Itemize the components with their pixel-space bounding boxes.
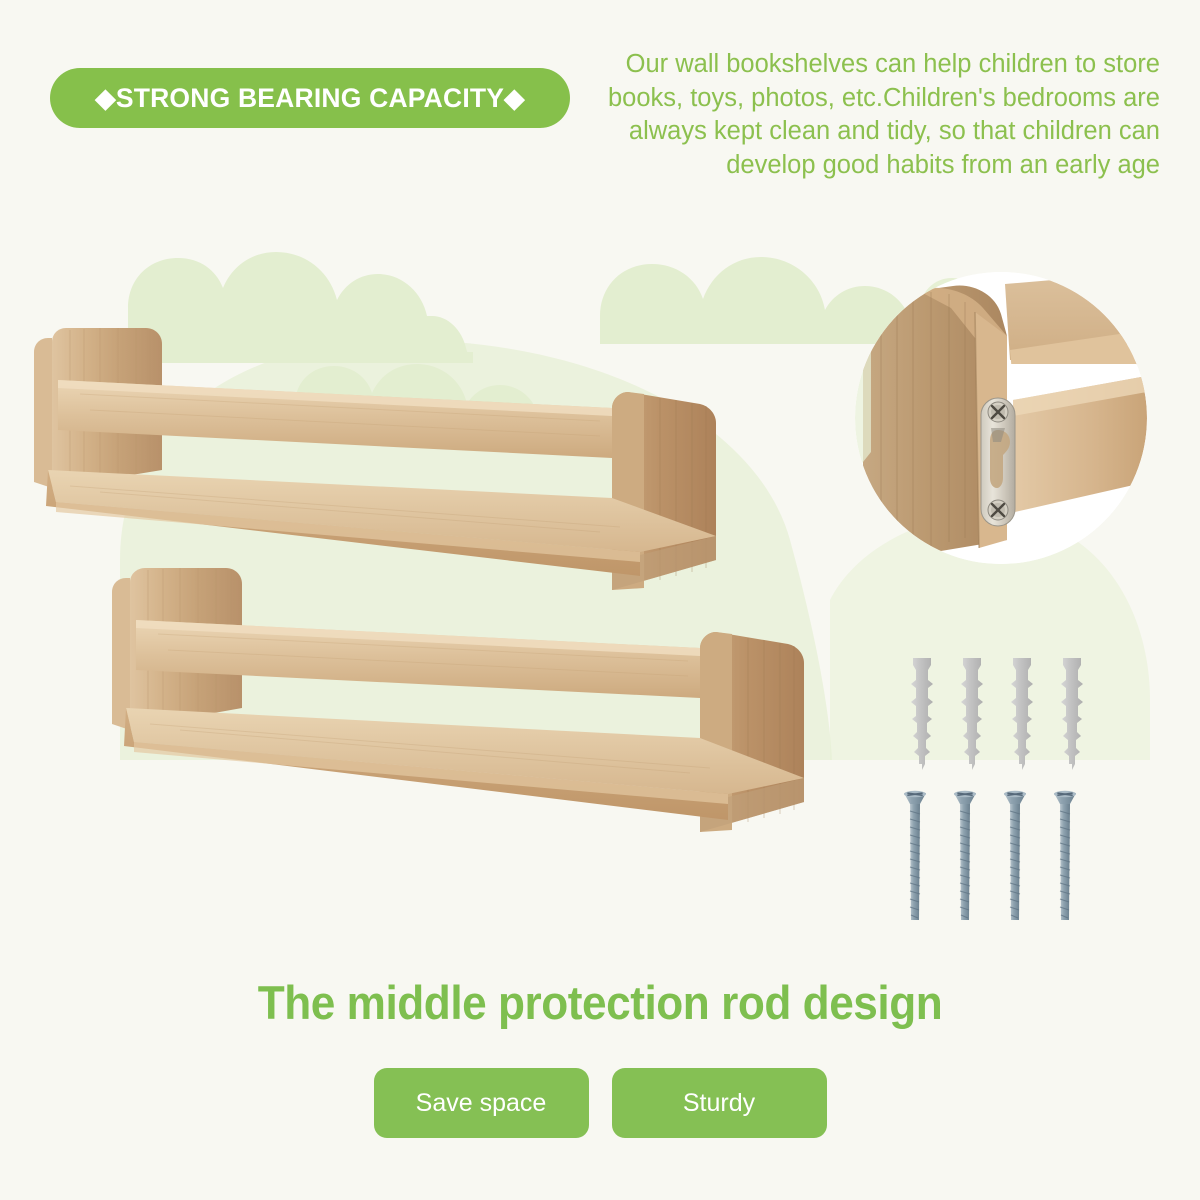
wall-anchor-4 [1061, 658, 1083, 770]
intro-paragraph: Our wall bookshelves can help children t… [588, 48, 1160, 182]
wall-anchor-3 [1011, 658, 1033, 770]
upper-shelf [34, 328, 716, 590]
screw-2 [954, 791, 976, 920]
lower-left-panel-edge [112, 578, 130, 730]
wall-anchor-2 [961, 658, 983, 770]
keyhole-hanger-closeup-inset [855, 272, 1147, 564]
inset-keyhole-plate [981, 398, 1015, 526]
footer-heading: The middle protection rod design [36, 975, 1164, 1030]
inset-screw-bottom [988, 500, 1008, 520]
screw-3 [1004, 791, 1026, 920]
cta-button-row: Save space Sturdy [0, 1068, 1200, 1138]
screw-1 [904, 791, 926, 920]
upper-left-panel-edge [34, 338, 52, 488]
wall-anchor-1 [911, 658, 933, 770]
save-space-button[interactable]: Save space [374, 1068, 589, 1138]
lower-shelf [112, 568, 804, 832]
badge-label: ◆STRONG BEARING CAPACITY◆ [95, 83, 525, 114]
sturdy-button[interactable]: Sturdy [612, 1068, 827, 1138]
hardware-kit [900, 655, 1110, 920]
product-feature-page: ◆STRONG BEARING CAPACITY◆ Our wall books… [0, 0, 1200, 1200]
strong-bearing-capacity-badge: ◆STRONG BEARING CAPACITY◆ [50, 68, 570, 128]
inset-screw-top [988, 402, 1008, 422]
screw-4 [1054, 791, 1076, 920]
